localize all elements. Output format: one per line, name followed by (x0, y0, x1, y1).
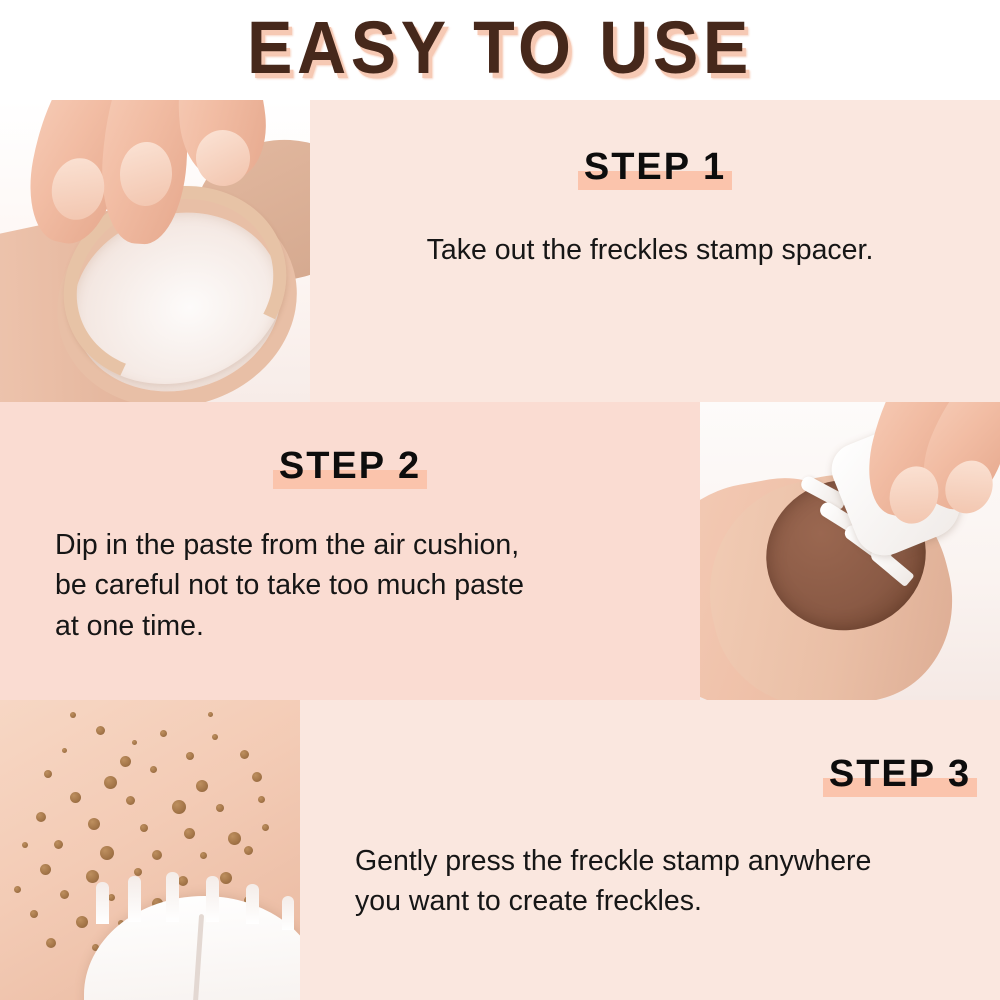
freckle-dot (108, 894, 115, 901)
freckle-dot (244, 846, 253, 855)
freckle-dot (258, 796, 265, 803)
freckle-dot (22, 842, 28, 848)
freckle-dot (14, 886, 21, 893)
freckle-dot (196, 780, 208, 792)
step-3-description: Gently press the freckle stamp anywhere … (300, 841, 1000, 922)
step-3-heading: STEP 3 (823, 755, 977, 793)
freckle-dot (262, 824, 269, 831)
step-3-photo (0, 700, 300, 1000)
freckle-dot (208, 712, 213, 717)
step-3-row: STEP 3 Gently press the freckle stamp an… (0, 700, 1000, 1000)
freckle-dot (96, 726, 105, 735)
freckle-dot (76, 916, 88, 928)
freckle-dot (252, 772, 262, 782)
freckle-dot (46, 938, 56, 948)
stamp-prong-shape (96, 882, 109, 924)
freckle-dot (160, 730, 167, 737)
freckle-dot (140, 824, 148, 832)
freckle-dot (134, 868, 142, 876)
step-1-text-panel: STEP 1 Take out the freckles stamp space… (310, 100, 1000, 402)
freckle-dot (44, 770, 52, 778)
freckle-dot (88, 818, 100, 830)
freckle-dot (70, 712, 76, 718)
freckle-dot (132, 740, 137, 745)
freckle-dot (240, 750, 249, 759)
step-2-description: Dip in the paste from the air cushion, b… (0, 525, 700, 646)
freckle-dot (228, 832, 241, 845)
stamp-prong-shape (166, 872, 179, 922)
step-2-row: STEP 2 Dip in the paste from the air cus… (0, 402, 1000, 700)
freckle-dot (152, 850, 162, 860)
freckle-dot (184, 828, 195, 839)
freckle-dot (40, 864, 51, 875)
freckle-dot (36, 812, 46, 822)
freckle-stamp-tool-shape (84, 896, 300, 1000)
easy-to-use-infographic: EASY TO USE FR (0, 0, 1000, 1000)
freckle-dot (178, 876, 188, 886)
freckle-dot (120, 756, 131, 767)
skin-with-freckles-shape (0, 700, 300, 1000)
freckle-dot (216, 804, 224, 812)
freckle-dot (104, 776, 117, 789)
step-3-text-panel: STEP 3 Gently press the freckle stamp an… (300, 700, 1000, 1000)
page-title-bar: EASY TO USE (0, 0, 1000, 100)
step-2-heading: STEP 2 (273, 447, 427, 485)
freckle-dot (126, 796, 135, 805)
step-1-description: Take out the freckles stamp spacer. (310, 230, 1000, 270)
freckle-dot (62, 748, 67, 753)
freckle-dot (186, 752, 194, 760)
freckle-dot (60, 890, 69, 899)
stamp-prong-shape (206, 876, 219, 922)
freckle-dot (150, 766, 157, 773)
stamp-prong-shape (282, 896, 294, 930)
freckle-dot (70, 792, 81, 803)
step-1-heading: STEP 1 (578, 148, 732, 186)
freckle-dot (220, 872, 232, 884)
freckle-dot (212, 734, 218, 740)
freckle-dot (86, 870, 99, 883)
step-2-photo (700, 402, 1000, 700)
freckle-dot (54, 840, 63, 849)
stamp-prong-shape (128, 876, 141, 922)
step-2-text-panel: STEP 2 Dip in the paste from the air cus… (0, 402, 700, 700)
freckle-dot (100, 846, 114, 860)
stamp-prong-shape (246, 884, 259, 924)
step-1-photo: FR (0, 100, 310, 402)
freckle-dot (30, 910, 38, 918)
page-title: EASY TO USE (247, 11, 753, 89)
freckle-dot (200, 852, 207, 859)
freckle-dot (172, 800, 186, 814)
step-1-row: FR STEP 1 Take out the freckles stamp sp… (0, 100, 1000, 402)
